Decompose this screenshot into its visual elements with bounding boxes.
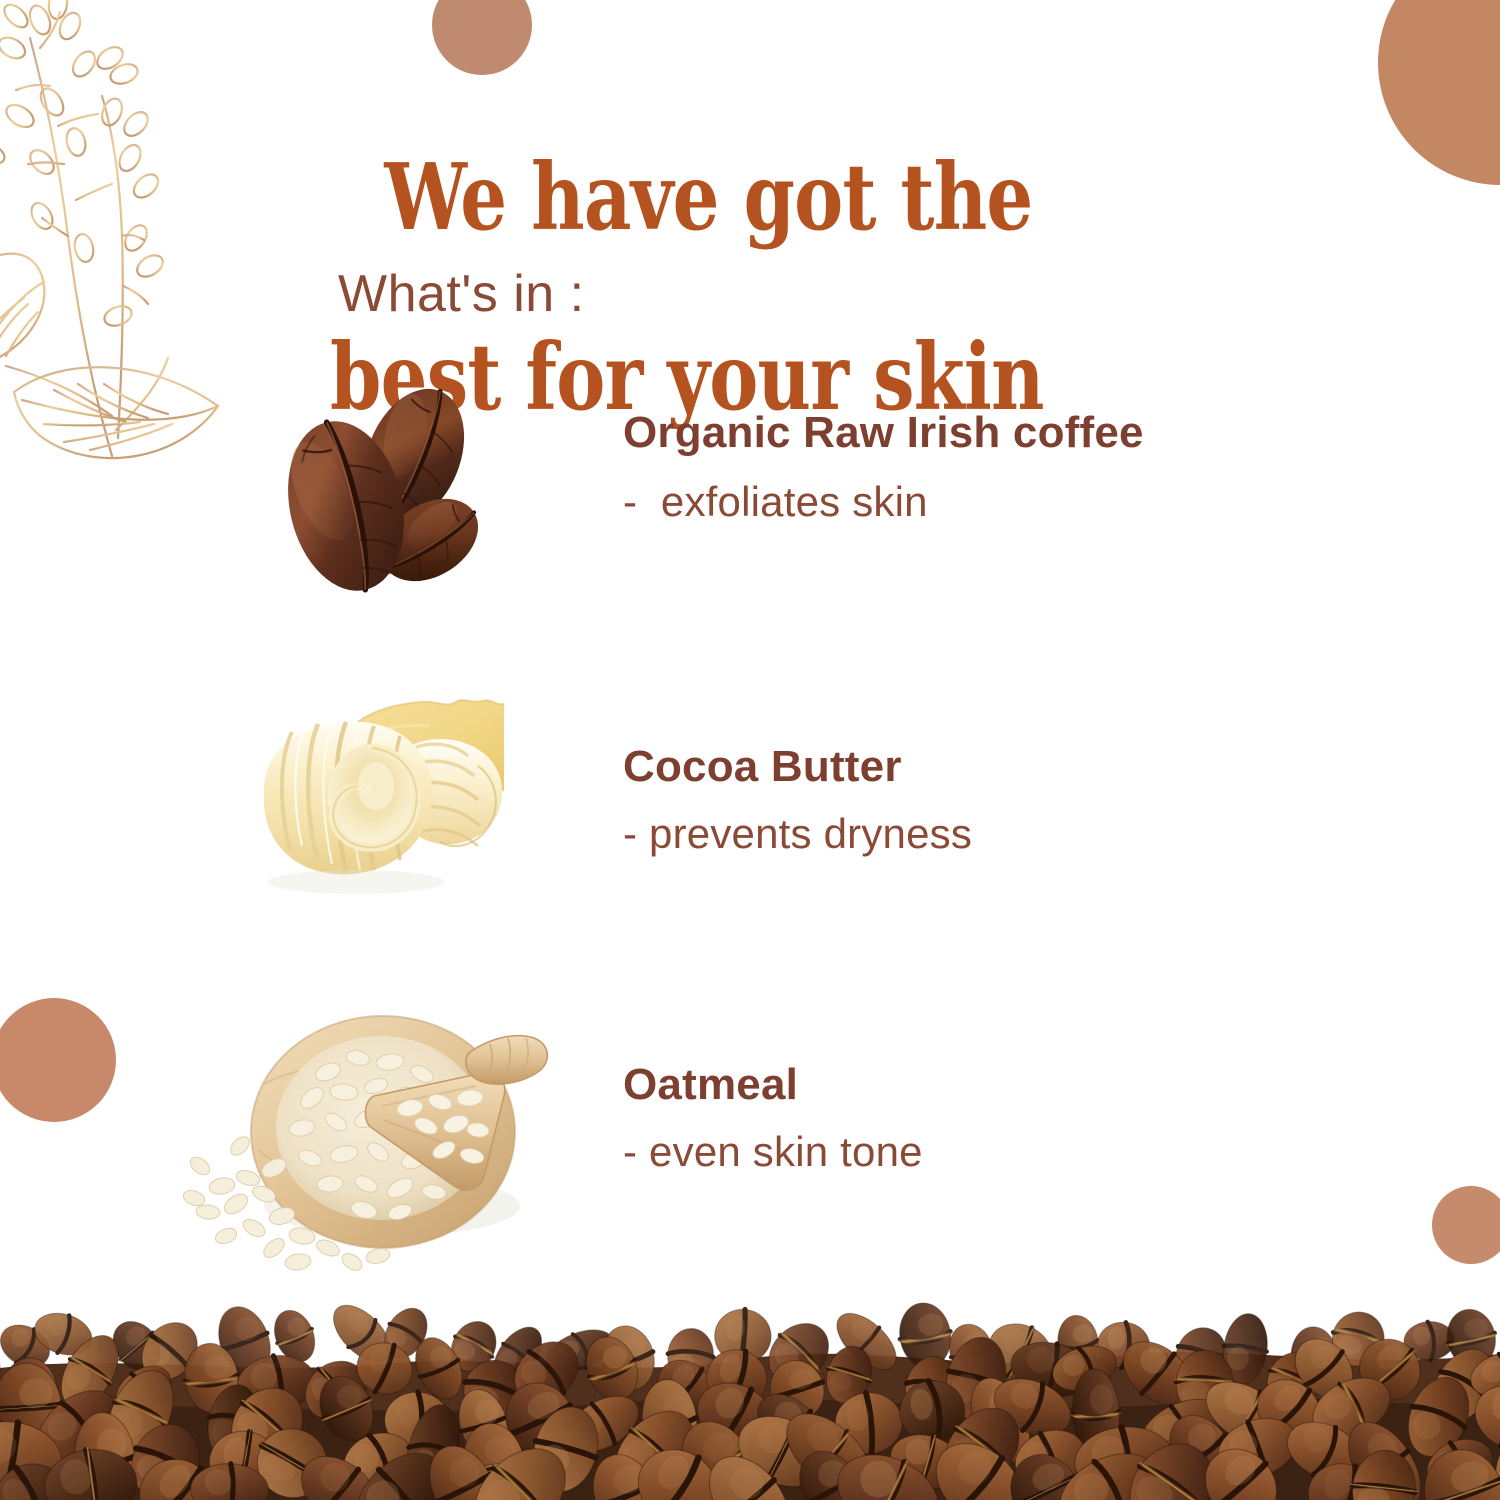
ingredient-name: Cocoa Butter	[623, 742, 972, 792]
ingredient-text-block: Organic Raw Irish coffee - exfoliates sk…	[623, 408, 1144, 526]
headline-line-1: We have got the	[330, 152, 1050, 242]
ingredient-row: Cocoa Butter - prevents dryness	[0, 660, 1500, 920]
decorative-circle-top-right	[1378, 0, 1500, 185]
ingredient-benefit: - prevents dryness	[623, 810, 972, 858]
ingredient-row: Organic Raw Irish coffee - exfoliates sk…	[0, 370, 1500, 630]
ingredient-name: Oatmeal	[623, 1060, 923, 1110]
ingredient-row: Oatmeal - even skin tone	[0, 980, 1500, 1240]
ingredient-text-block: Oatmeal - even skin tone	[623, 1060, 923, 1176]
subtitle: What's in :	[338, 264, 585, 324]
ingredient-benefit: - even skin tone	[623, 1128, 923, 1176]
coffee-bean-photo-band	[0, 1272, 1500, 1500]
ingredient-name: Organic Raw Irish coffee	[623, 408, 1144, 458]
coffee-beans-icon	[262, 378, 502, 608]
butter-curls-icon	[246, 670, 526, 920]
oatmeal-bowl-icon	[178, 980, 578, 1280]
ingredient-text-block: Cocoa Butter - prevents dryness	[623, 742, 972, 858]
ingredient-benefit: - exfoliates skin	[623, 478, 1144, 526]
promo-graphic: We have got the best for your skin What'…	[0, 0, 1500, 1500]
